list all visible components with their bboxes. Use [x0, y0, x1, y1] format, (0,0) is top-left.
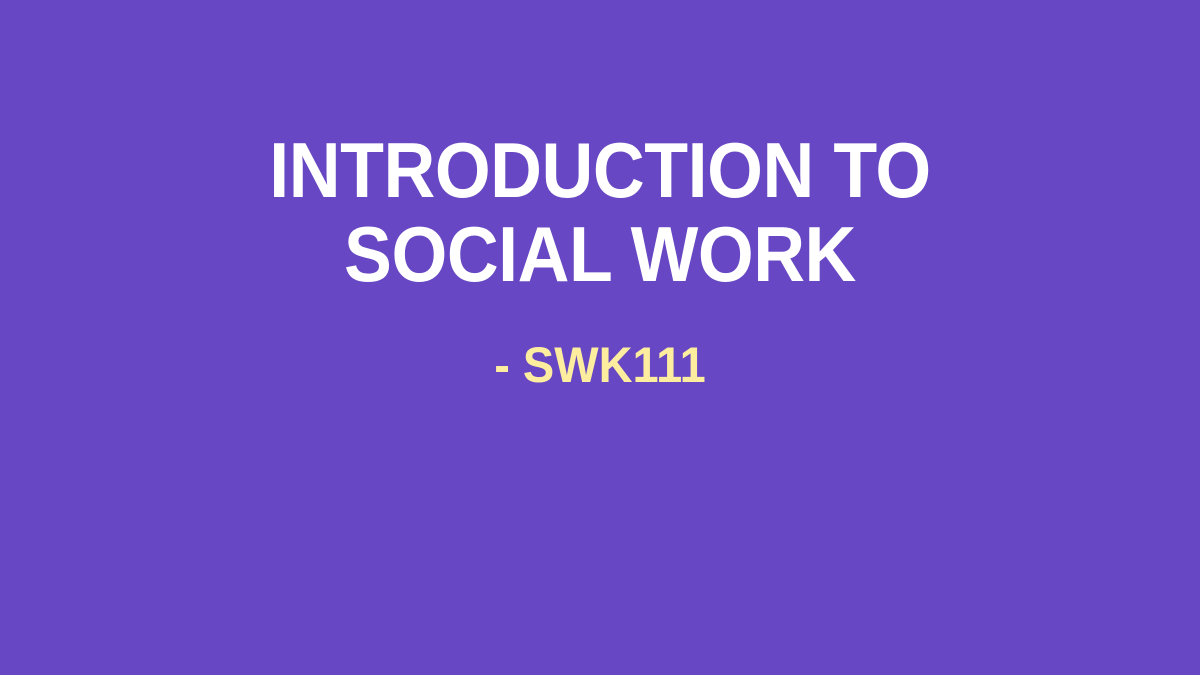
- title-line-2: SOCIAL WORK: [48, 212, 1152, 296]
- title-slide: INTRODUCTION TO SOCIAL WORK - SWK111: [0, 0, 1200, 675]
- course-code-subtitle: - SWK111: [36, 296, 1164, 392]
- title-block: INTRODUCTION TO SOCIAL WORK - SWK111: [0, 0, 1200, 392]
- title-line-1: INTRODUCTION TO: [48, 128, 1152, 212]
- page-title: INTRODUCTION TO SOCIAL WORK: [48, 128, 1152, 296]
